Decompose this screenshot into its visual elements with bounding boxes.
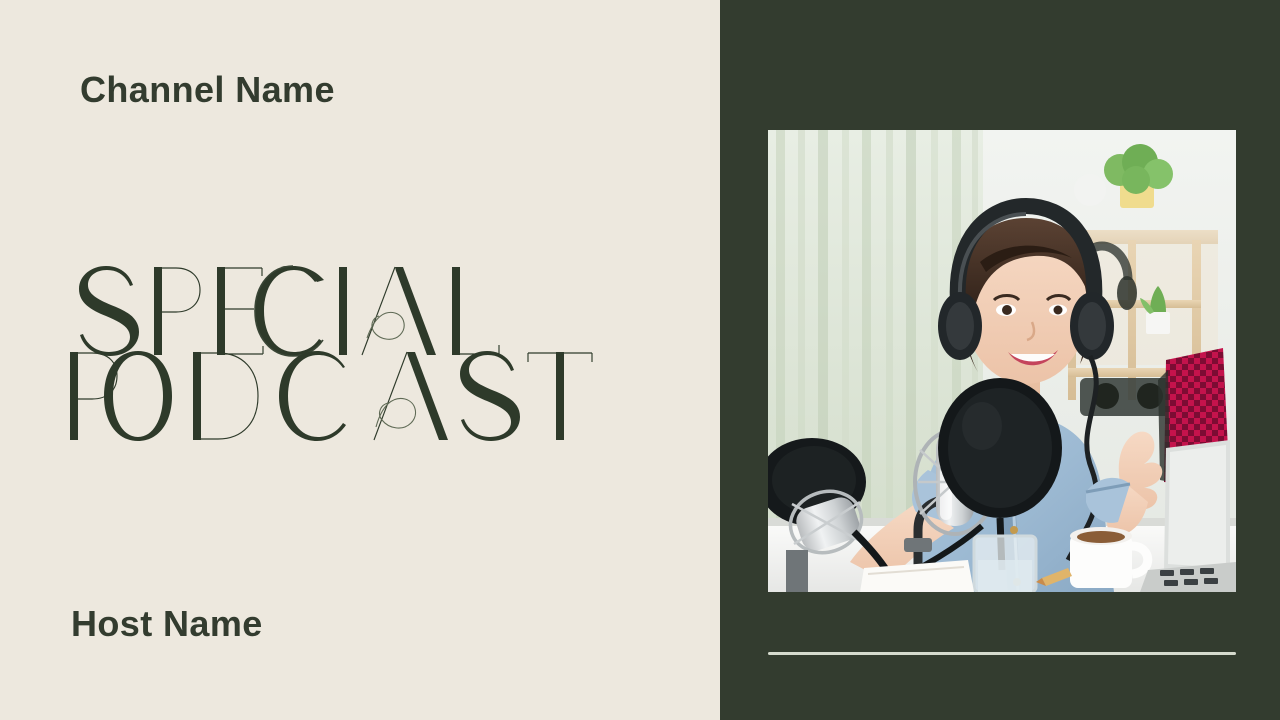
- podcast-title: [62, 250, 582, 445]
- channel-name: Channel Name: [80, 72, 335, 108]
- title-line-1-glyphs: [79, 266, 499, 356]
- left-panel: Channel Name: [0, 0, 720, 720]
- title-line-2-glyphs: [70, 351, 592, 441]
- cover-canvas: Channel Name: [0, 0, 1280, 720]
- host-name: Host Name: [71, 606, 263, 642]
- podcast-host-photo: [768, 130, 1236, 592]
- divider-rule: [768, 652, 1236, 655]
